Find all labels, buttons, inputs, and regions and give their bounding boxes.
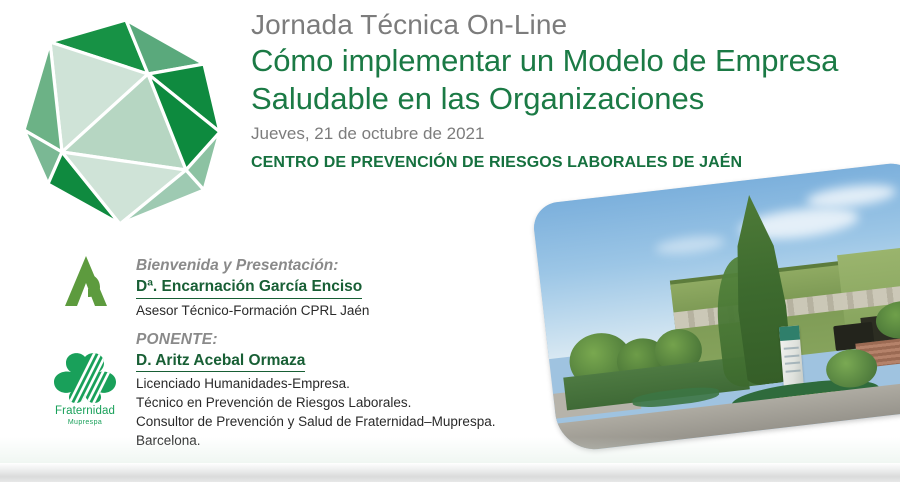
photo-sign-header — [779, 325, 800, 341]
fraternidad-muprespa-logo: Fraternidad Muprespa — [46, 352, 124, 436]
junta-de-andalucia-logo — [55, 250, 117, 312]
speaker-role: PONENTE: — [136, 329, 556, 350]
speaker-detail: Técnico en Prevención de Riesgos Laboral… — [136, 393, 556, 412]
speaker-detail: Asesor Técnico-Formación CPRL Jaén — [136, 301, 556, 320]
photo-sign-line — [785, 362, 800, 365]
venue-photo — [531, 160, 900, 453]
speaker-detail: Licenciado Humanidades-Empresa. — [136, 374, 556, 393]
speaker-role: Bienvenida y Presentación: — [136, 255, 556, 276]
speaker-entry-welcome: Bienvenida y Presentación: Dª. Encarnaci… — [136, 255, 556, 320]
event-venue: CENTRO DE PREVENCIÓN DE RIESGOS LABORALE… — [251, 152, 896, 174]
speakers-block: Bienvenida y Presentación: Dª. Encarnaci… — [136, 255, 556, 450]
icosahedron-logo — [14, 12, 226, 227]
muprespa-label: Muprespa — [46, 418, 124, 427]
header-block: Jornada Técnica On-Line Cómo implementar… — [251, 8, 896, 174]
speaker-name: D. Aritz Acebal Ormaza — [136, 350, 305, 373]
speaker-name: Dª. Encarnación García Enciso — [136, 276, 362, 299]
event-title-line-2: Saludable en las Organizaciones — [251, 80, 896, 118]
fraternidad-label: Fraternidad — [46, 405, 124, 418]
photo-sign-line — [784, 354, 799, 357]
presentation-slide: Jornada Técnica On-Line Cómo implementar… — [0, 0, 900, 482]
event-date: Jueves, 21 de octubre de 2021 — [251, 122, 896, 146]
bottom-bar — [0, 463, 900, 482]
spacer — [136, 320, 556, 329]
photo-sign-line — [786, 370, 801, 373]
event-title-line-1: Cómo implementar un Modelo de Empresa — [251, 42, 896, 80]
event-kicker: Jornada Técnica On-Line — [251, 8, 896, 42]
venue-photo-frame — [531, 160, 900, 453]
speaker-detail: Consultor de Prevención y Salud de Frate… — [136, 412, 556, 431]
photo-sign-line — [784, 346, 799, 349]
clover-icon — [46, 352, 124, 404]
speaker-detail: Barcelona. — [136, 431, 556, 450]
speaker-entry-ponente: PONENTE: D. Aritz Acebal Ormaza Licencia… — [136, 329, 556, 451]
